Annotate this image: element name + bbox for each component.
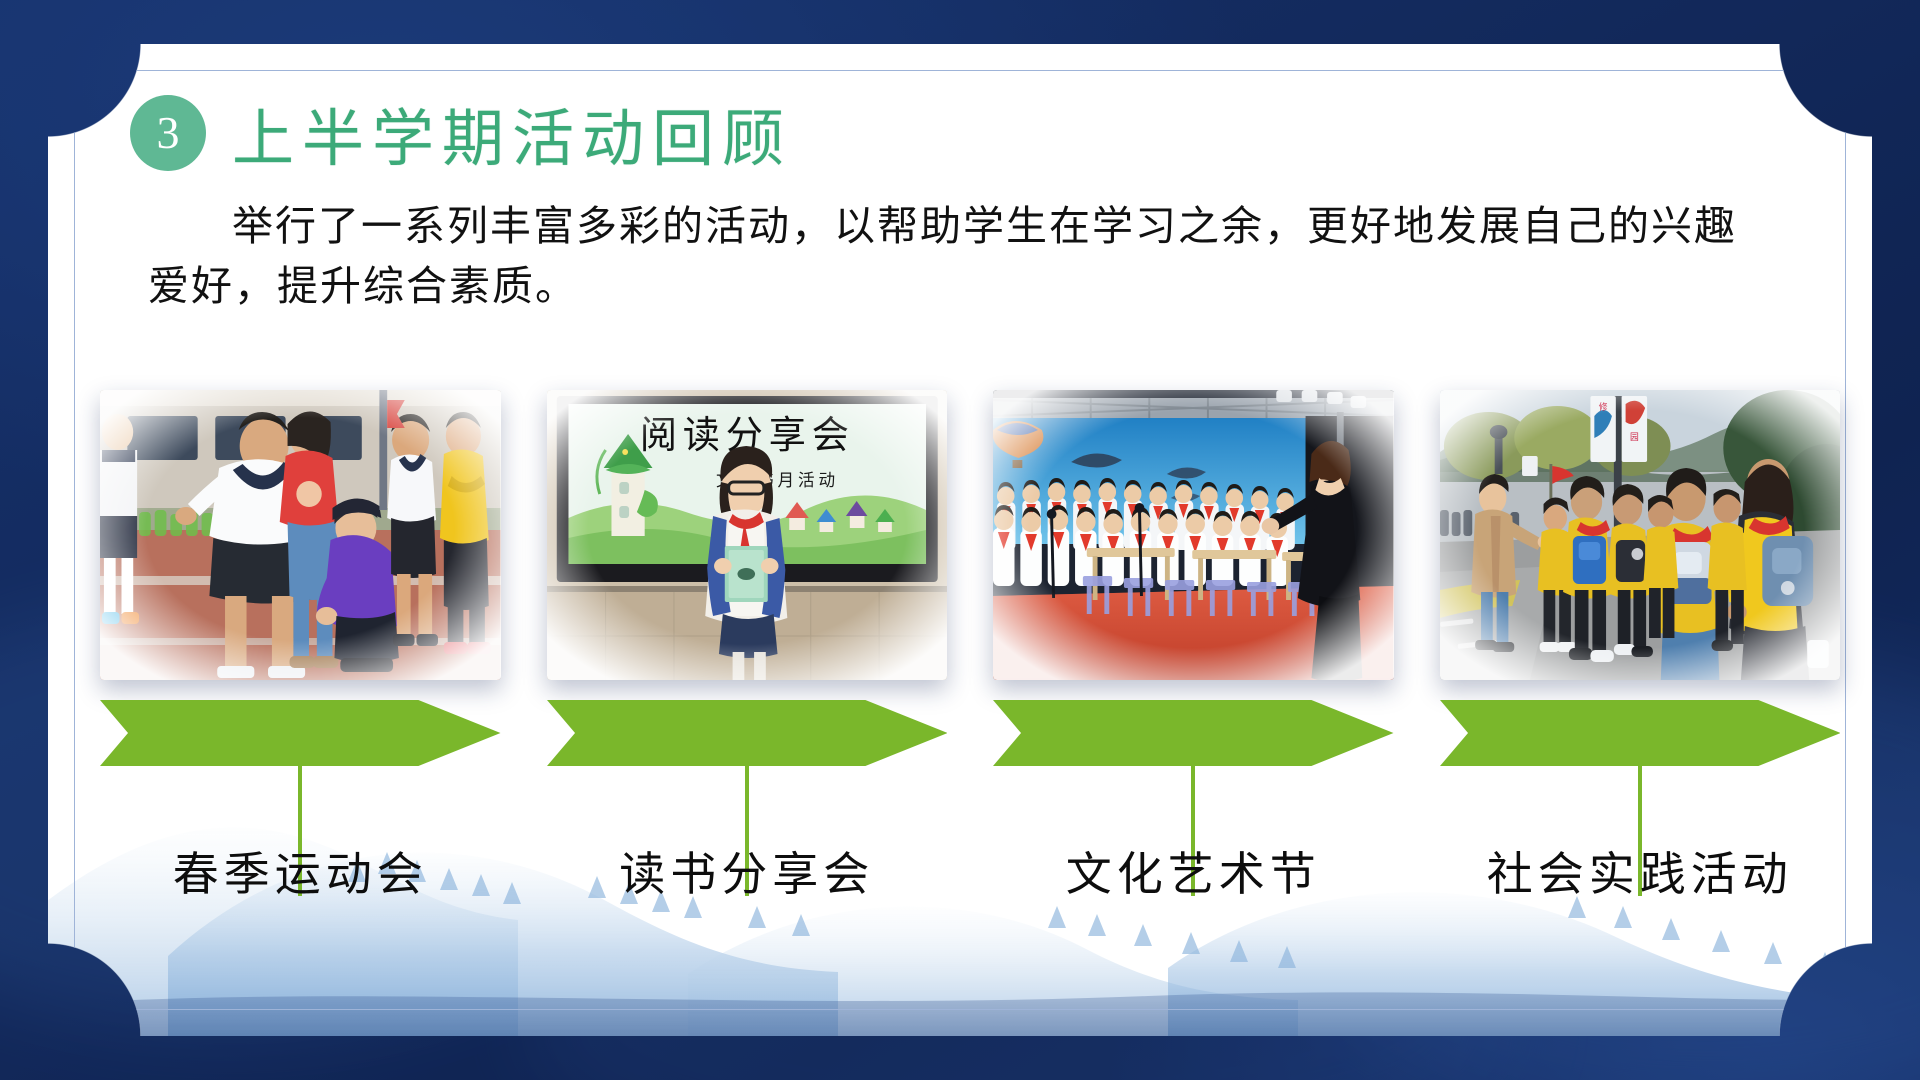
label-row: 春季运动会 读书分享会 文化艺术节 社会实践活动: [100, 838, 1840, 904]
activity-label-text: 社会实践活动: [1487, 849, 1793, 900]
arrow-cell-1: [100, 700, 501, 800]
photo-social-practice-activity: 修 园: [1440, 390, 1841, 680]
activity-label-3: 文化艺术节: [993, 838, 1394, 904]
slide-canvas: 3 上半学期活动回顾 举行了一系列丰富多彩的活动，以帮助学生在学习之余，更好地发…: [0, 0, 1920, 1080]
arrow-cell-4: [1440, 700, 1841, 800]
arrow-cell-3: [993, 700, 1394, 800]
activity-label-1: 春季运动会: [100, 838, 501, 904]
activity-label-text: 文化艺术节: [1066, 849, 1321, 900]
chevron-arrow-right: [1440, 700, 1841, 766]
arrow-row: [100, 700, 1840, 800]
section-number-label: 3: [157, 110, 180, 156]
chevron-arrow-right: [993, 700, 1394, 766]
photo-reading-sharing-session: 阅读分享会 文读书月活动: [547, 390, 948, 680]
photo-row: 阅读分享会 文读书月活动: [100, 390, 1840, 680]
section-number-badge: 3: [130, 95, 206, 171]
body-paragraph: 举行了一系列丰富多彩的活动，以帮助学生在学习之余，更好地发展自己的兴趣爱好，提升…: [148, 196, 1738, 316]
photo-culture-art-festival: [993, 390, 1394, 680]
page-title: 上半学期活动回顾: [232, 88, 792, 178]
activity-label-2: 读书分享会: [547, 838, 948, 904]
photo-spring-sports-meet: [100, 390, 501, 680]
activity-label-text: 春季运动会: [173, 849, 428, 900]
chevron-arrow-right: [100, 700, 501, 766]
arrow-cell-2: [547, 700, 948, 800]
slide-header: 3 上半学期活动回顾: [130, 88, 792, 178]
activity-label-4: 社会实践活动: [1440, 838, 1841, 904]
chevron-arrow-right: [547, 700, 948, 766]
activity-label-text: 读书分享会: [619, 849, 874, 900]
